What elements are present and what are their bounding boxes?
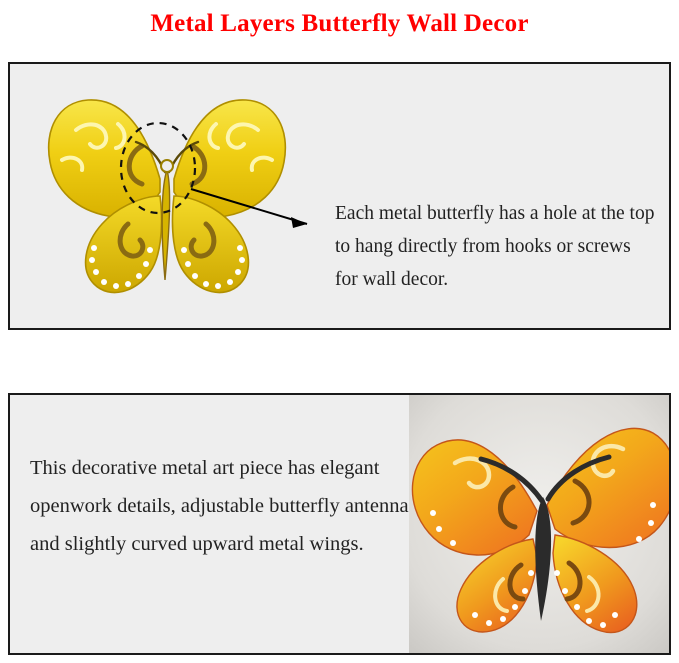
butterfly-front-image [32,84,302,309]
product-infographic: Metal Layers Butterfly Wall Decor [0,0,679,663]
butterfly-angled-image [409,393,671,655]
panel-bottom: This decorative metal art piece has eleg… [8,393,671,655]
caption-bottom: This decorative metal art piece has eleg… [30,449,430,563]
caption-top: Each metal butterfly has a hole at the t… [335,197,655,296]
page-title: Metal Layers Butterfly Wall Decor [0,10,679,38]
panel-top: Each metal butterfly has a hole at the t… [8,62,671,330]
